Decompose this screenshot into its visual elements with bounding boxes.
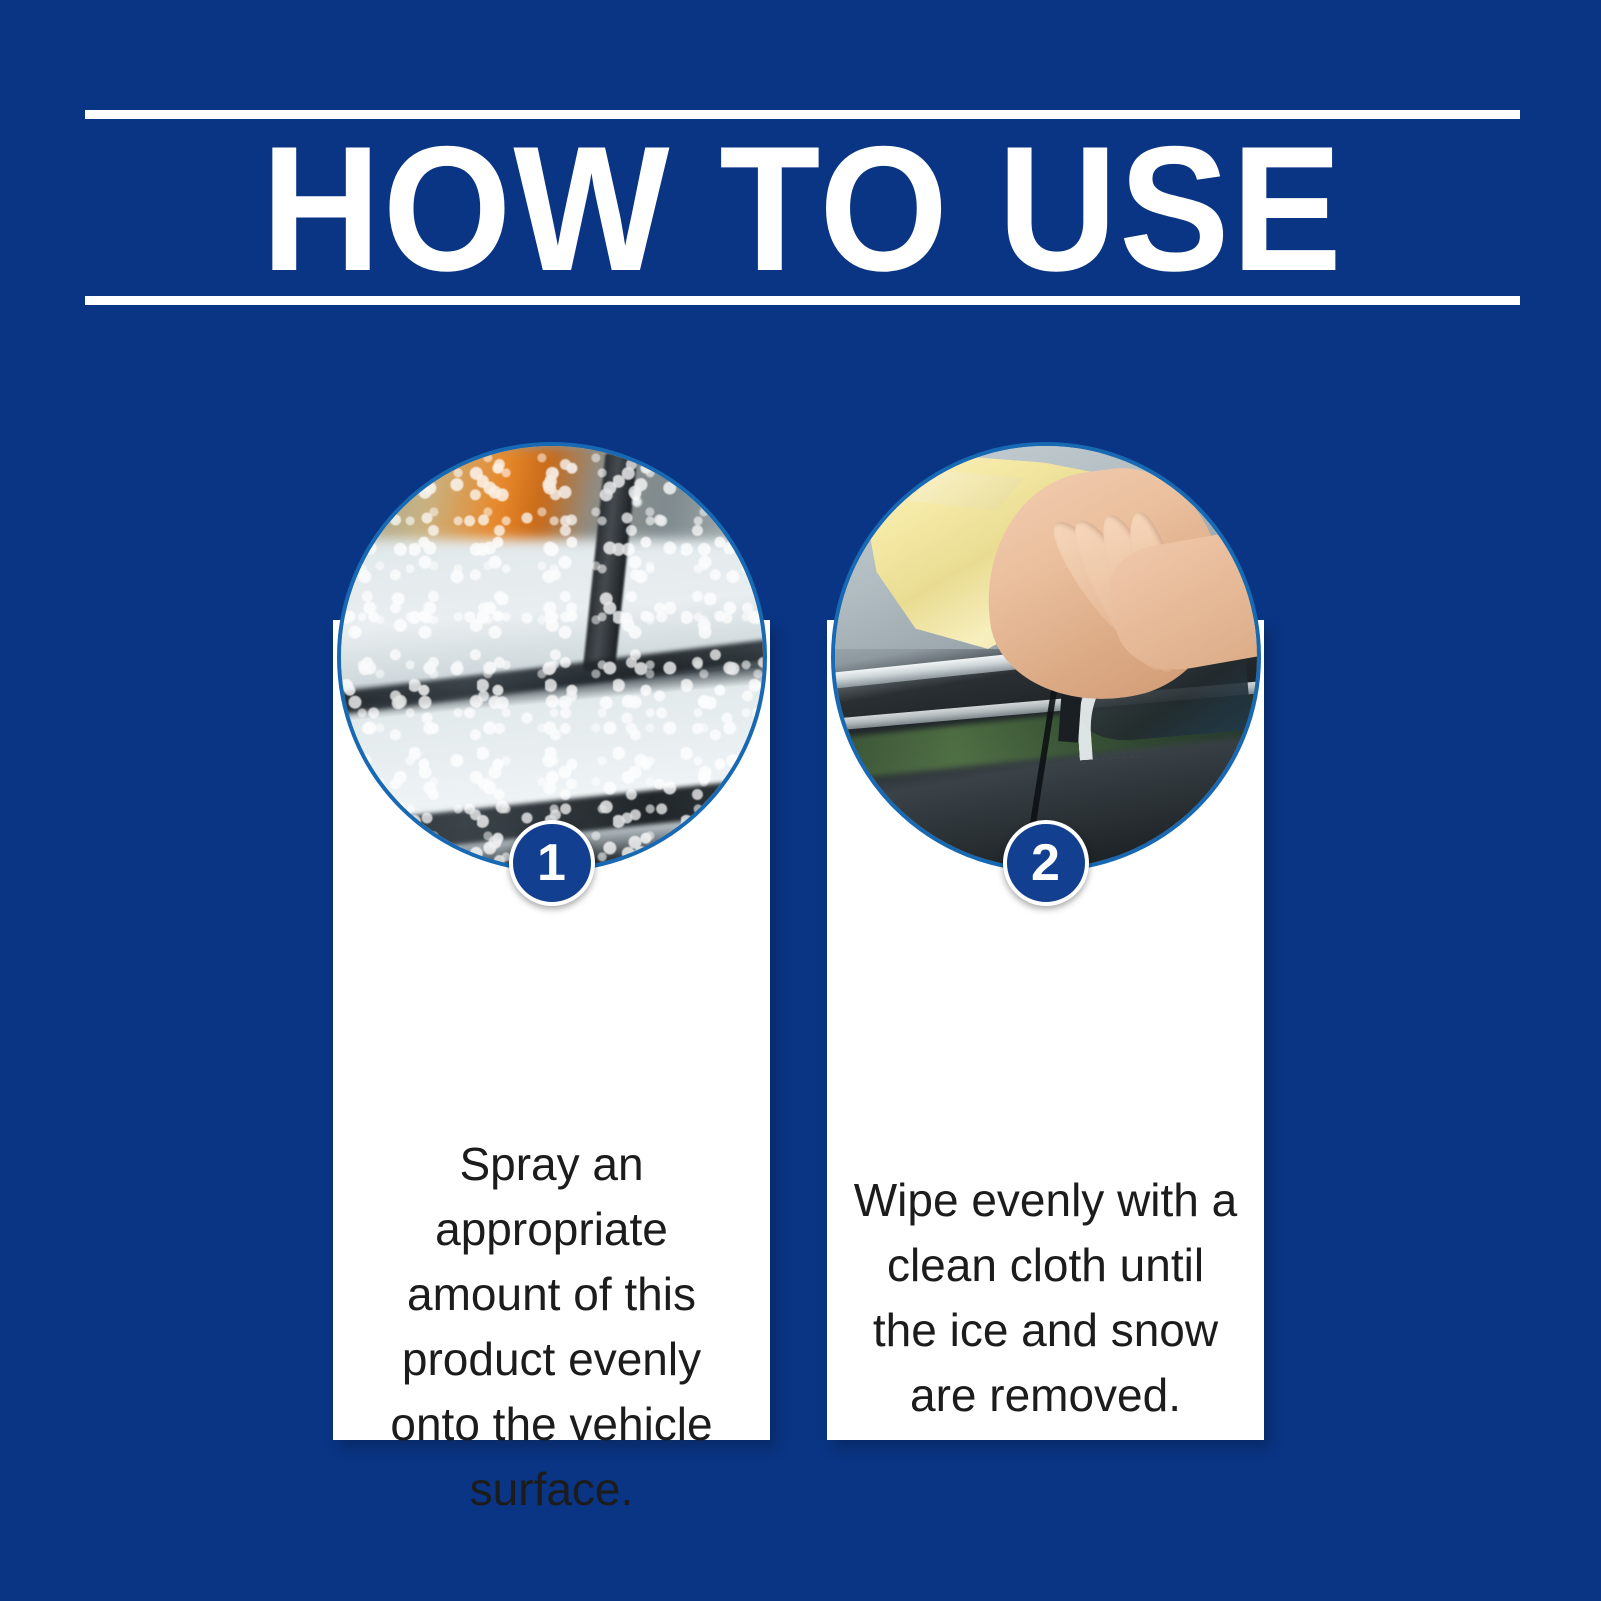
step-1-badge: 1	[509, 820, 595, 906]
step-2-photo	[831, 442, 1261, 872]
title-rule-bottom	[85, 296, 1520, 305]
step-card-2: 2 Wipe evenly with a clean cloth until t…	[827, 620, 1264, 1440]
hand-wiping-image	[835, 446, 1257, 868]
step-card-1: 1 Spray an appropriate amount of this pr…	[333, 620, 770, 1440]
page-title: HOW TO USE	[135, 124, 1470, 294]
step-1-text: Spray an appropriate amount of this prod…	[355, 1132, 748, 1522]
step-1-photo	[337, 442, 767, 872]
steps-container: 1 Spray an appropriate amount of this pr…	[0, 442, 1601, 1442]
step-2-badge: 2	[1003, 820, 1089, 906]
snow-texture	[341, 446, 763, 868]
step-2-text: Wipe evenly with a clean cloth until the…	[849, 1168, 1242, 1428]
frost-windshield-image	[341, 446, 763, 868]
header-banner: HOW TO USE	[85, 110, 1520, 305]
